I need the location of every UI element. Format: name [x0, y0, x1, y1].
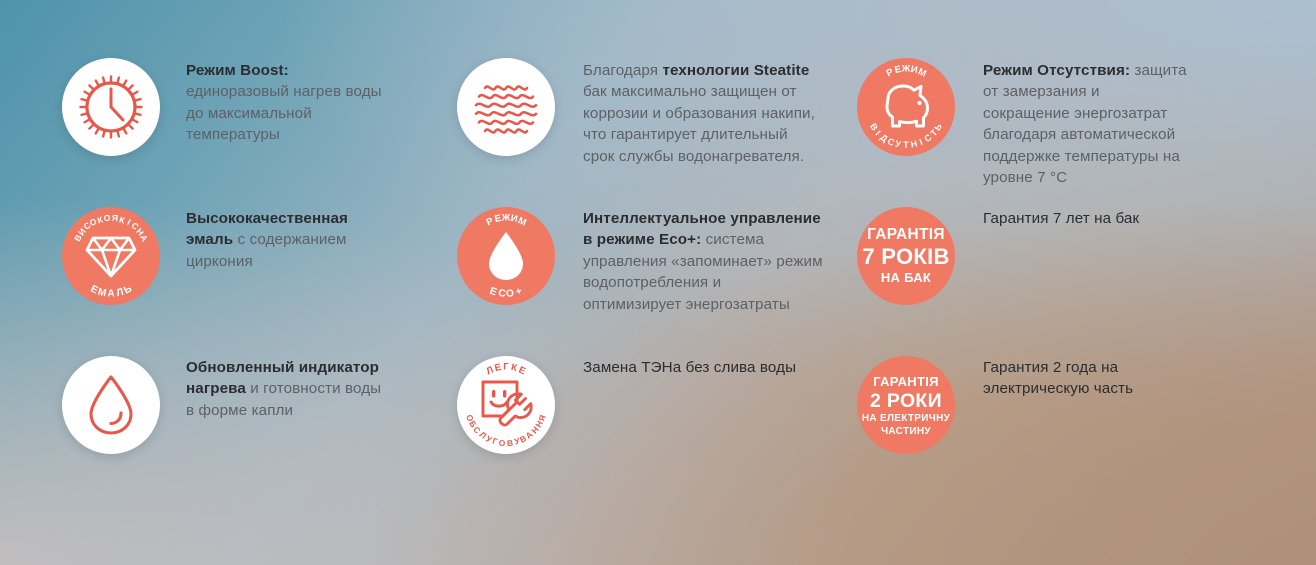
feature-text-boost-mode: Режим Boost: единоразовый нагрев воды до…	[186, 60, 391, 146]
badge-line: ГАРАНТІЯ	[862, 373, 950, 390]
feature-grid: Режим Boost: единоразовый нагрев воды до…	[0, 0, 1316, 565]
clock-icon	[62, 58, 160, 156]
feature-plain: Замена ТЭНа без слива воды	[583, 359, 796, 376]
feature-text-zirconium-enamel: Высококачественная эмаль с содержанием ц…	[186, 208, 391, 272]
warranty-badge-icon: ГАРАНТІЯ7 РОКІВНА БАК	[857, 207, 955, 305]
badge-line: НА ЕЛЕКТРИЧНУ	[862, 412, 950, 425]
feature-rest: единоразовый нагрев воды до максимальной…	[186, 83, 382, 143]
diamond-icon: ВИСОКОЯКІСНАЕМАЛЬ	[62, 207, 160, 305]
feature-text-eco-plus-mode: Интеллектуальное управление в режиме Eco…	[583, 208, 823, 315]
feature-icon-tank-warranty: ГАРАНТІЯ7 РОКІВНА БАК	[857, 207, 955, 305]
feature-plain: Гарантия 2 года на электрическую часть	[983, 359, 1133, 397]
feature-rest: бак максимально защищен от коррозии и об…	[583, 83, 815, 164]
feature-text-easy-service: Замена ТЭНа без слива воды	[583, 357, 823, 378]
feature-icon-heating-indicator	[62, 356, 160, 454]
feature-text-heating-indicator: Обновленный индикатор нагрева и готовнос…	[186, 357, 391, 421]
feature-bold: Режим Boost:	[186, 62, 289, 79]
feature-bold: Режим Отсутствия:	[983, 62, 1130, 79]
feature-icon-absence-mode: РЕЖИМВІДСУТНІСТЬ	[857, 58, 955, 156]
piggy-bank-icon: РЕЖИМВІДСУТНІСТЬ	[857, 58, 955, 156]
badge-line: ЧАСТИНУ	[862, 425, 950, 438]
feature-icon-electrical-warranty: ГАРАНТІЯ2 РОКИНА ЕЛЕКТРИЧНУЧАСТИНУ	[857, 356, 955, 454]
feature-icon-zirconium-enamel: ВИСОКОЯКІСНАЕМАЛЬ	[62, 207, 160, 305]
feature-bold: технологии Steatite	[662, 62, 809, 79]
feature-text-absence-mode: Режим Отсутствия: защита от замерзания и…	[983, 60, 1188, 188]
warranty-badge-icon: ГАРАНТІЯ2 РОКИНА ЕЛЕКТРИЧНУЧАСТИНУ	[857, 356, 955, 454]
feature-icon-easy-service: ЛЕГКЕОБСЛУГОВУВАННЯ	[457, 356, 555, 454]
badge-line: НА БАК	[862, 269, 949, 287]
feature-rest: защита от замерзания и сокращение энерго…	[983, 62, 1187, 186]
wrench-smile-icon: ЛЕГКЕОБСЛУГОВУВАННЯ	[457, 356, 555, 454]
feature-plain: Гарантия 7 лет на бак	[983, 210, 1139, 227]
feature-lead: Благодаря	[583, 62, 662, 79]
drop-outline-icon	[62, 356, 160, 454]
feature-icon-boost-mode	[62, 58, 160, 156]
badge-line: ГАРАНТІЯ	[862, 225, 949, 244]
badge-line: 2 РОКИ	[862, 390, 950, 412]
feature-icon-steatite-technology	[457, 58, 555, 156]
waves-icon	[457, 58, 555, 156]
feature-icon-eco-plus-mode: РЕЖИМECO+	[457, 207, 555, 305]
feature-text-electrical-warranty: Гарантия 2 года на электрическую часть	[983, 357, 1188, 400]
badge-line: 7 РОКІВ	[862, 244, 949, 269]
feature-text-steatite-technology: Благодаря технологии Steatite бак максим…	[583, 60, 823, 167]
feature-text-tank-warranty: Гарантия 7 лет на бак	[983, 208, 1188, 229]
water-drop-icon: РЕЖИМECO+	[457, 207, 555, 305]
